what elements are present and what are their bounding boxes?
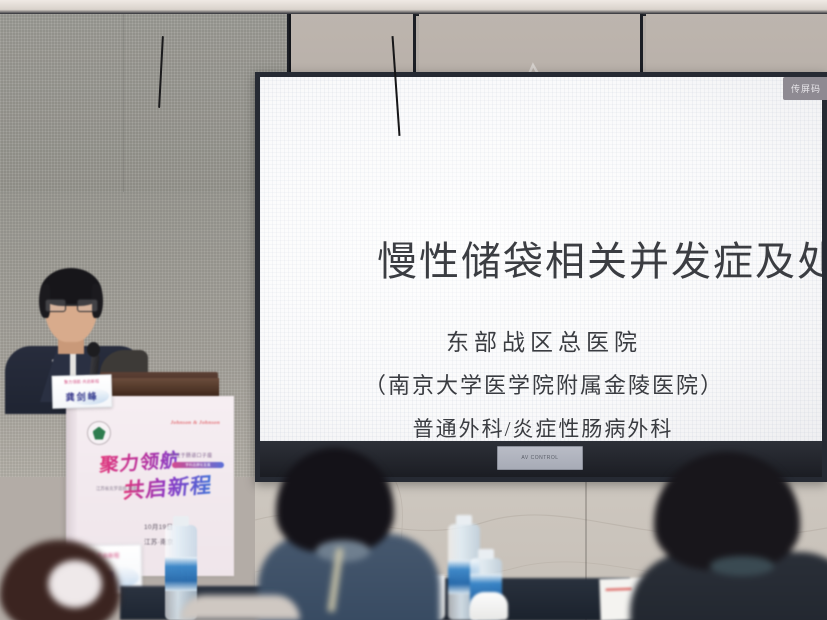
banner-tagline: 专注于肠道口子座 [170, 452, 212, 459]
banner-subtext-1: 江苏省克罗恩病·肠瘘 [96, 486, 137, 492]
podium-desktop-face [107, 378, 219, 398]
glasses-icon [44, 299, 99, 312]
slide-subtitle-line-3: 普通外科/炎症性肠病外科 [260, 413, 822, 441]
paper-cup-2 [470, 592, 508, 620]
wall-panel-gray-upper [0, 14, 289, 192]
slide-subtitle-line-1: 东部战区总医院 [260, 323, 822, 357]
audience-member-suit [640, 452, 827, 620]
slide-surface: 慢性储袋相关并发症及处 东部战区总医院 （南京大学医学院附属金陵医院） 普通外科… [260, 77, 822, 441]
nameplate-speaker: 聚力领航·共启新程 龚剑峰 [52, 374, 113, 409]
av-control-plate[interactable]: AV CONTROL [497, 446, 583, 470]
banner-pill-text: 学科品牌化发展 [172, 462, 224, 468]
slide-subtitle-line-2: （南京大学医学院附属金陵医院） [260, 368, 822, 400]
association-seal-icon [87, 421, 111, 445]
slide-title: 慢性储袋相关并发症及处 [377, 229, 822, 287]
audience-member-foreground [180, 595, 300, 620]
podium-banner-artwork: 聚力领航 共启新程 专注于肠道口子座 学科品牌化发展 江苏省克罗恩病·肠瘘 [94, 448, 224, 510]
nameplate-swoosh-1 [68, 387, 109, 405]
audience-member-curly [0, 540, 140, 620]
conference-photo-scene: 慢性储袋相关并发症及处 东部战区总医院 （南京大学医学院附属金陵医院） 普通外科… [0, 0, 827, 620]
projection-screen: 慢性储袋相关并发症及处 东部战区总医院 （南京大学医学院附属金陵医院） 普通外科… [255, 72, 827, 482]
sponsor-logo: Johnson & Johnson [170, 420, 220, 426]
nameplate-logo-1: 聚力领航·共启新程 [64, 379, 99, 386]
microphone-icon [87, 342, 100, 357]
